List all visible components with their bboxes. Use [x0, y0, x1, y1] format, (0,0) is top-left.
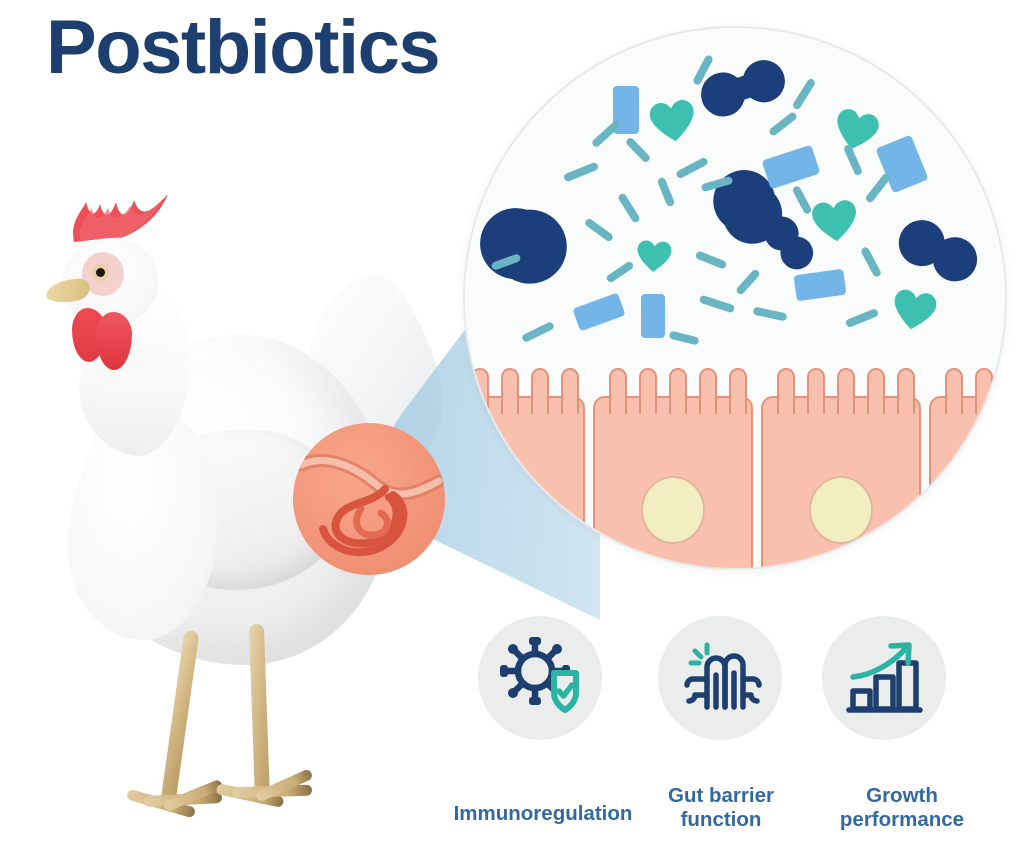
cell-nucleus — [473, 476, 537, 544]
metabolite-dash — [605, 260, 634, 283]
rod-microbe — [572, 293, 625, 332]
benefit-icon-circle — [822, 616, 946, 740]
metabolite-dash — [521, 321, 555, 343]
metabolite-dash — [591, 120, 622, 149]
rod-microbe — [762, 145, 821, 190]
benefit-icon-circle — [478, 616, 602, 740]
microvillus — [561, 368, 579, 414]
metabolite-dash — [791, 185, 812, 215]
benefit-immunoregulation[interactable]: Immunoregulation — [478, 616, 602, 740]
benefit-label: Immunoregulation — [438, 802, 648, 826]
metabolite-dash — [845, 308, 880, 328]
epithelial-cell — [463, 396, 585, 570]
bar-chart-arrow-up-icon — [841, 635, 927, 721]
diplococcus-microbe — [486, 203, 558, 287]
microvillus — [807, 368, 825, 414]
chicken-leg-left — [160, 630, 200, 810]
metabolite-dash — [625, 136, 652, 163]
metabolite-dash — [695, 250, 728, 269]
benefit-icon-circle — [658, 616, 782, 740]
metabolite-dash — [860, 246, 882, 278]
metabolite-dash — [657, 177, 676, 208]
epithelial-cell — [761, 396, 921, 570]
heart-microbe — [890, 287, 939, 336]
epithelium-layer — [465, 368, 1005, 568]
cell-nucleus — [641, 476, 705, 544]
benefit-gut-barrier-function[interactable]: Gut barrier function — [658, 616, 782, 740]
microvillus — [729, 368, 747, 414]
chicken-foot-right — [216, 780, 320, 806]
epithelial-cell — [593, 396, 753, 570]
chicken-foot-left — [126, 788, 230, 814]
intestine-drawing — [293, 423, 445, 575]
microvillus — [1005, 368, 1007, 414]
microvillus — [609, 368, 627, 414]
chicken-comb — [70, 188, 174, 244]
diplococcus-microbe — [891, 212, 985, 289]
cell-nucleus — [809, 476, 873, 544]
metabolite-dash — [735, 268, 761, 296]
metabolite-dash — [584, 217, 615, 242]
microvillus — [471, 368, 489, 414]
microvillus — [501, 368, 519, 414]
metabolite-dash — [675, 156, 709, 179]
metabolite-dash — [699, 295, 736, 314]
microvillus — [639, 368, 657, 414]
chicken-eye — [96, 268, 105, 277]
microvillus — [669, 368, 687, 414]
metabolite-dash — [753, 307, 788, 322]
microvillus — [837, 368, 855, 414]
epithelial-cell — [929, 396, 1007, 570]
microvillus — [945, 368, 963, 414]
cell-nucleus — [977, 476, 1007, 544]
heart-microbe — [831, 106, 882, 157]
magnified-gut-view — [463, 26, 1007, 570]
benefits-row: Immunoregulation — [440, 608, 1024, 858]
microvillus — [699, 368, 717, 414]
metabolite-dash — [668, 330, 699, 345]
rod-microbe — [793, 269, 846, 302]
benefit-label: Growth performance — [812, 784, 992, 832]
microvillus — [897, 368, 915, 414]
benefit-growth-performance[interactable]: Growth performance — [822, 616, 946, 740]
microvillus — [777, 368, 795, 414]
benefit-label: Gut barrier function — [653, 784, 789, 832]
rod-microbe — [641, 294, 665, 338]
microvillus — [531, 368, 549, 414]
microvillus — [867, 368, 885, 414]
metabolite-dash — [768, 111, 798, 137]
metabolite-dash — [563, 162, 599, 183]
page-title: Postbiotics — [46, 10, 439, 86]
gut-closeup-circle — [293, 423, 445, 575]
intestinal-villi-icon — [677, 635, 763, 721]
heart-microbe — [811, 198, 859, 246]
metabolite-dash — [864, 172, 891, 204]
metabolite-dash — [792, 77, 817, 110]
heart-microbe — [636, 239, 672, 275]
infographic-canvas: Postbiotics — [0, 0, 1024, 864]
microvillus — [975, 368, 993, 414]
metabolite-dash — [617, 192, 641, 223]
virus-shield-check-icon — [497, 635, 583, 721]
heart-microbe — [648, 97, 698, 147]
